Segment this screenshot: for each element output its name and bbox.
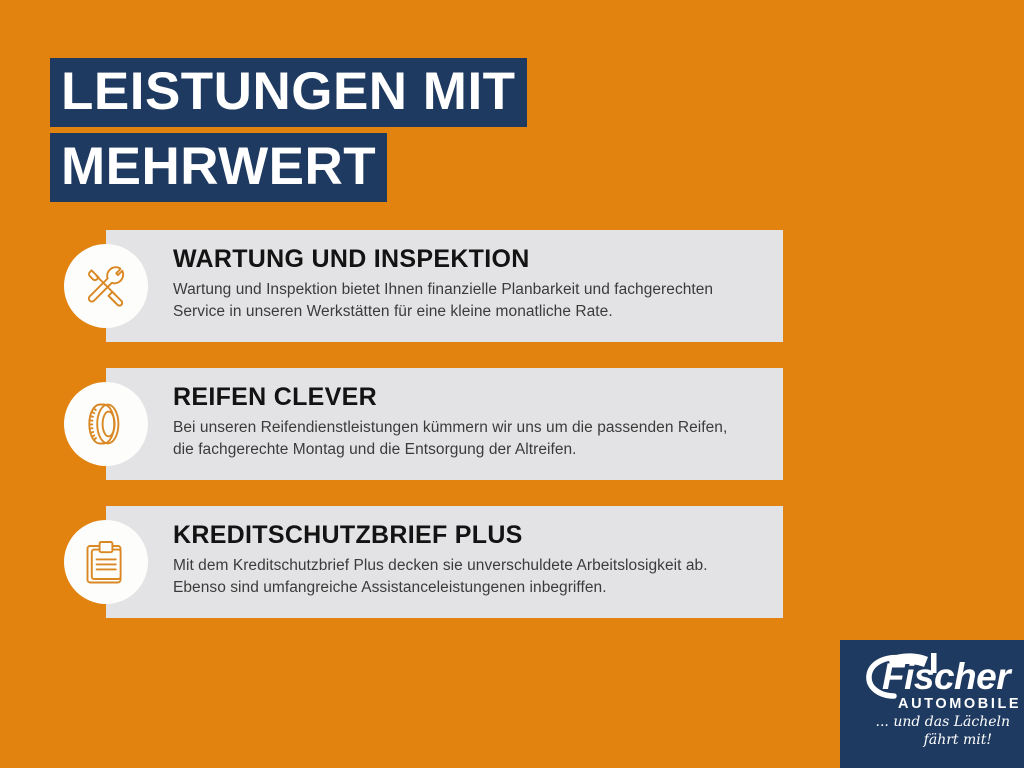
card-text-block: KREDITSCHUTZBRIEF PLUS Mit dem Kreditsch…: [173, 522, 765, 599]
wrench-screwdriver-icon: [64, 244, 148, 328]
card-body-line-1: Bei unseren Reifendienstleistungen kümme…: [173, 417, 765, 439]
card-text-block: WARTUNG UND INSPEKTION Wartung und Inspe…: [173, 246, 765, 323]
logo-claim-line-2: fährt mit!: [840, 732, 1010, 750]
card-title: KREDITSCHUTZBRIEF PLUS: [173, 522, 765, 548]
card-body-line-1: Wartung und Inspektion bietet Ihnen fina…: [173, 279, 765, 301]
page-title: LEISTUNGEN MIT MEHRWERT: [50, 58, 527, 202]
service-card-kreditschutzbrief-plus[interactable]: KREDITSCHUTZBRIEF PLUS Mit dem Kreditsch…: [106, 506, 783, 618]
service-card-reifen-clever[interactable]: REIFEN CLEVER Bei unseren Reifendienstle…: [106, 368, 783, 480]
page-title-line-2: MEHRWERT: [50, 133, 387, 202]
card-text-block: REIFEN CLEVER Bei unseren Reifendienstle…: [173, 384, 765, 461]
poster-canvas: LEISTUNGEN MIT MEHRWERT WARTUNG UND INSP…: [0, 0, 1024, 768]
logo-sub-text: AUTOMOBILE: [898, 697, 1021, 712]
logo-claim-line-1: ... und das Lächeln: [876, 714, 1010, 730]
logo-claim: ... und das Lächeln fährt mit!: [840, 714, 1024, 749]
clipboard-icon: [64, 520, 148, 604]
card-body-line-2: Service in unseren Werkstätten für eine …: [173, 301, 765, 323]
card-title: REIFEN CLEVER: [173, 384, 765, 410]
tire-icon: [64, 382, 148, 466]
card-body-line-2: die fachgerechte Montag und die Entsorgu…: [173, 439, 765, 461]
logo-brand-text: Fischer: [882, 658, 1010, 695]
fischer-automobile-logo[interactable]: Fischer AUTOMOBILE ... und das Lächeln f…: [840, 640, 1024, 768]
card-title: WARTUNG UND INSPEKTION: [173, 246, 765, 272]
page-title-line-1: LEISTUNGEN MIT: [50, 58, 527, 127]
service-card-wartung-und-inspektion[interactable]: WARTUNG UND INSPEKTION Wartung und Inspe…: [106, 230, 783, 342]
card-body-line-1: Mit dem Kreditschutzbrief Plus decken si…: [173, 555, 765, 577]
card-body-line-2: Ebenso sind umfangreiche Assistanceleist…: [173, 577, 765, 599]
